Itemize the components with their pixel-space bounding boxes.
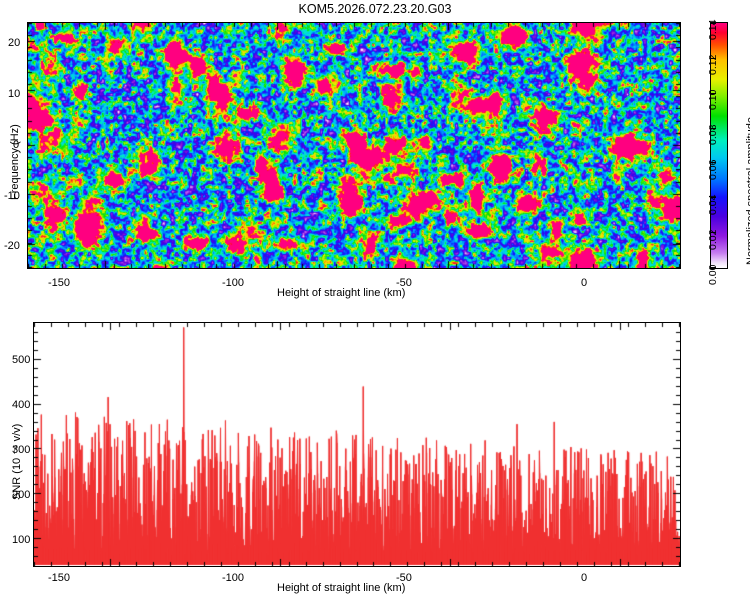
spectro-xtick-m150: -150	[48, 278, 70, 289]
colorbar-tick-0-10: 0.10	[708, 90, 719, 110]
figure-root: KOM5.2026.072.23.20.G03 20 10 0 -10 -20 …	[0, 0, 750, 600]
colorbar-tick-0-02: 0.02	[708, 230, 719, 250]
spectrogram-y-axis-title: Frequency (Hz)	[9, 124, 21, 200]
snr-y-axis-title: SNR (10 ⁻⁶ v/v)	[11, 424, 23, 500]
spectrogram-image	[28, 23, 680, 268]
spectro-ytick-10: 10	[8, 89, 20, 100]
snr-xtick-m150: -150	[48, 573, 70, 584]
snr-ytick-500: 500	[12, 355, 30, 366]
colorbar-tick-0-04: 0.04	[708, 195, 719, 215]
snr-trace-graphic	[34, 323, 680, 566]
colorbar-tick-0-12: 0.12	[708, 55, 719, 75]
snr-ytick-400: 400	[12, 400, 30, 411]
colorbar-title: Normalized spectral amplitude	[745, 117, 750, 265]
spectro-xtick-0: 0	[581, 278, 587, 289]
snr-xtick-0: 0	[581, 573, 587, 584]
colorbar-tick-0-06: 0.06	[708, 160, 719, 180]
spectrogram-plot-area	[27, 22, 681, 269]
spectro-xtick-m100: -100	[222, 278, 244, 289]
spectro-ytick-20: 20	[8, 38, 20, 49]
spectro-ytick-m20: -20	[4, 241, 20, 252]
spectrogram-x-axis-title: Height of straight line (km)	[277, 287, 405, 299]
colorbar-tick-0-08: 0.08	[708, 125, 719, 145]
page-title: KOM5.2026.072.23.20.G03	[0, 2, 750, 16]
snr-plot-area	[33, 322, 681, 567]
colorbar-tick-0-14: 0.14	[708, 20, 719, 40]
colorbar-tick-0-00: 0.00	[708, 265, 719, 285]
snr-ytick-100: 100	[12, 535, 30, 546]
snr-xtick-m100: -100	[222, 573, 244, 584]
snr-x-axis-title: Height of straight line (km)	[277, 582, 405, 594]
